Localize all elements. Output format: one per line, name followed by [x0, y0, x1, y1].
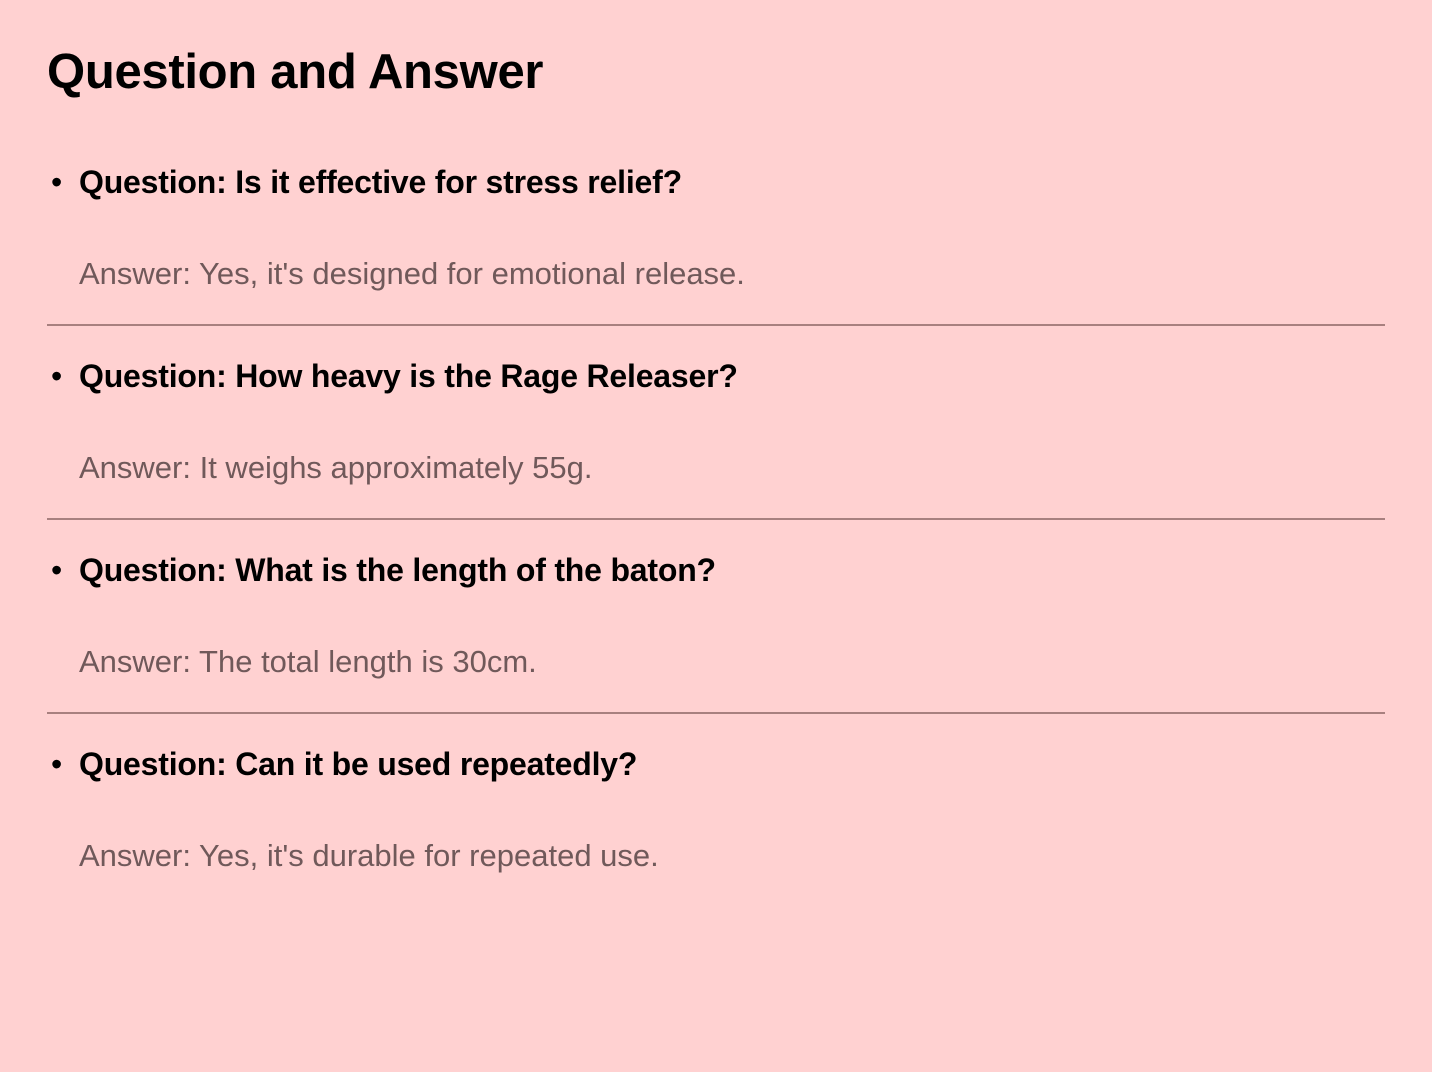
page-title: Question and Answer	[47, 0, 1385, 102]
qa-list: • Question: Is it effective for stress r…	[47, 132, 1385, 906]
bullet-dot-icon: •	[47, 354, 79, 398]
qa-item-content: • Question: How heavy is the Rage Releas…	[47, 326, 1385, 518]
question-row: • Question: How heavy is the Rage Releas…	[47, 354, 1385, 398]
bullet-dot-icon: •	[47, 160, 79, 204]
question-row: • Question: What is the length of the ba…	[47, 548, 1385, 592]
qa-item-content: • Question: Is it effective for stress r…	[47, 132, 1385, 324]
question-row: • Question: Can it be used repeatedly?	[47, 742, 1385, 786]
qa-item-content: • Question: What is the length of the ba…	[47, 520, 1385, 712]
answer-text: Answer: Yes, it's designed for emotional…	[79, 254, 1385, 294]
list-item: • Question: What is the length of the ba…	[47, 518, 1385, 712]
list-item: • Question: Is it effective for stress r…	[47, 132, 1385, 324]
qa-page: Question and Answer • Question: Is it ef…	[0, 0, 1432, 1072]
question-text: Question: Can it be used repeatedly?	[79, 742, 1385, 786]
qa-item-content: • Question: Can it be used repeatedly? A…	[47, 714, 1385, 906]
answer-text: Answer: The total length is 30cm.	[79, 642, 1385, 682]
list-item: • Question: How heavy is the Rage Releas…	[47, 324, 1385, 518]
answer-text: Answer: It weighs approximately 55g.	[79, 448, 1385, 488]
question-row: • Question: Is it effective for stress r…	[47, 160, 1385, 204]
bullet-dot-icon: •	[47, 742, 79, 786]
question-text: Question: How heavy is the Rage Releaser…	[79, 354, 1385, 398]
bullet-dot-icon: •	[47, 548, 79, 592]
list-item: • Question: Can it be used repeatedly? A…	[47, 712, 1385, 906]
question-text: Question: What is the length of the bato…	[79, 548, 1385, 592]
answer-text: Answer: Yes, it's durable for repeated u…	[79, 836, 1385, 876]
question-text: Question: Is it effective for stress rel…	[79, 160, 1385, 204]
